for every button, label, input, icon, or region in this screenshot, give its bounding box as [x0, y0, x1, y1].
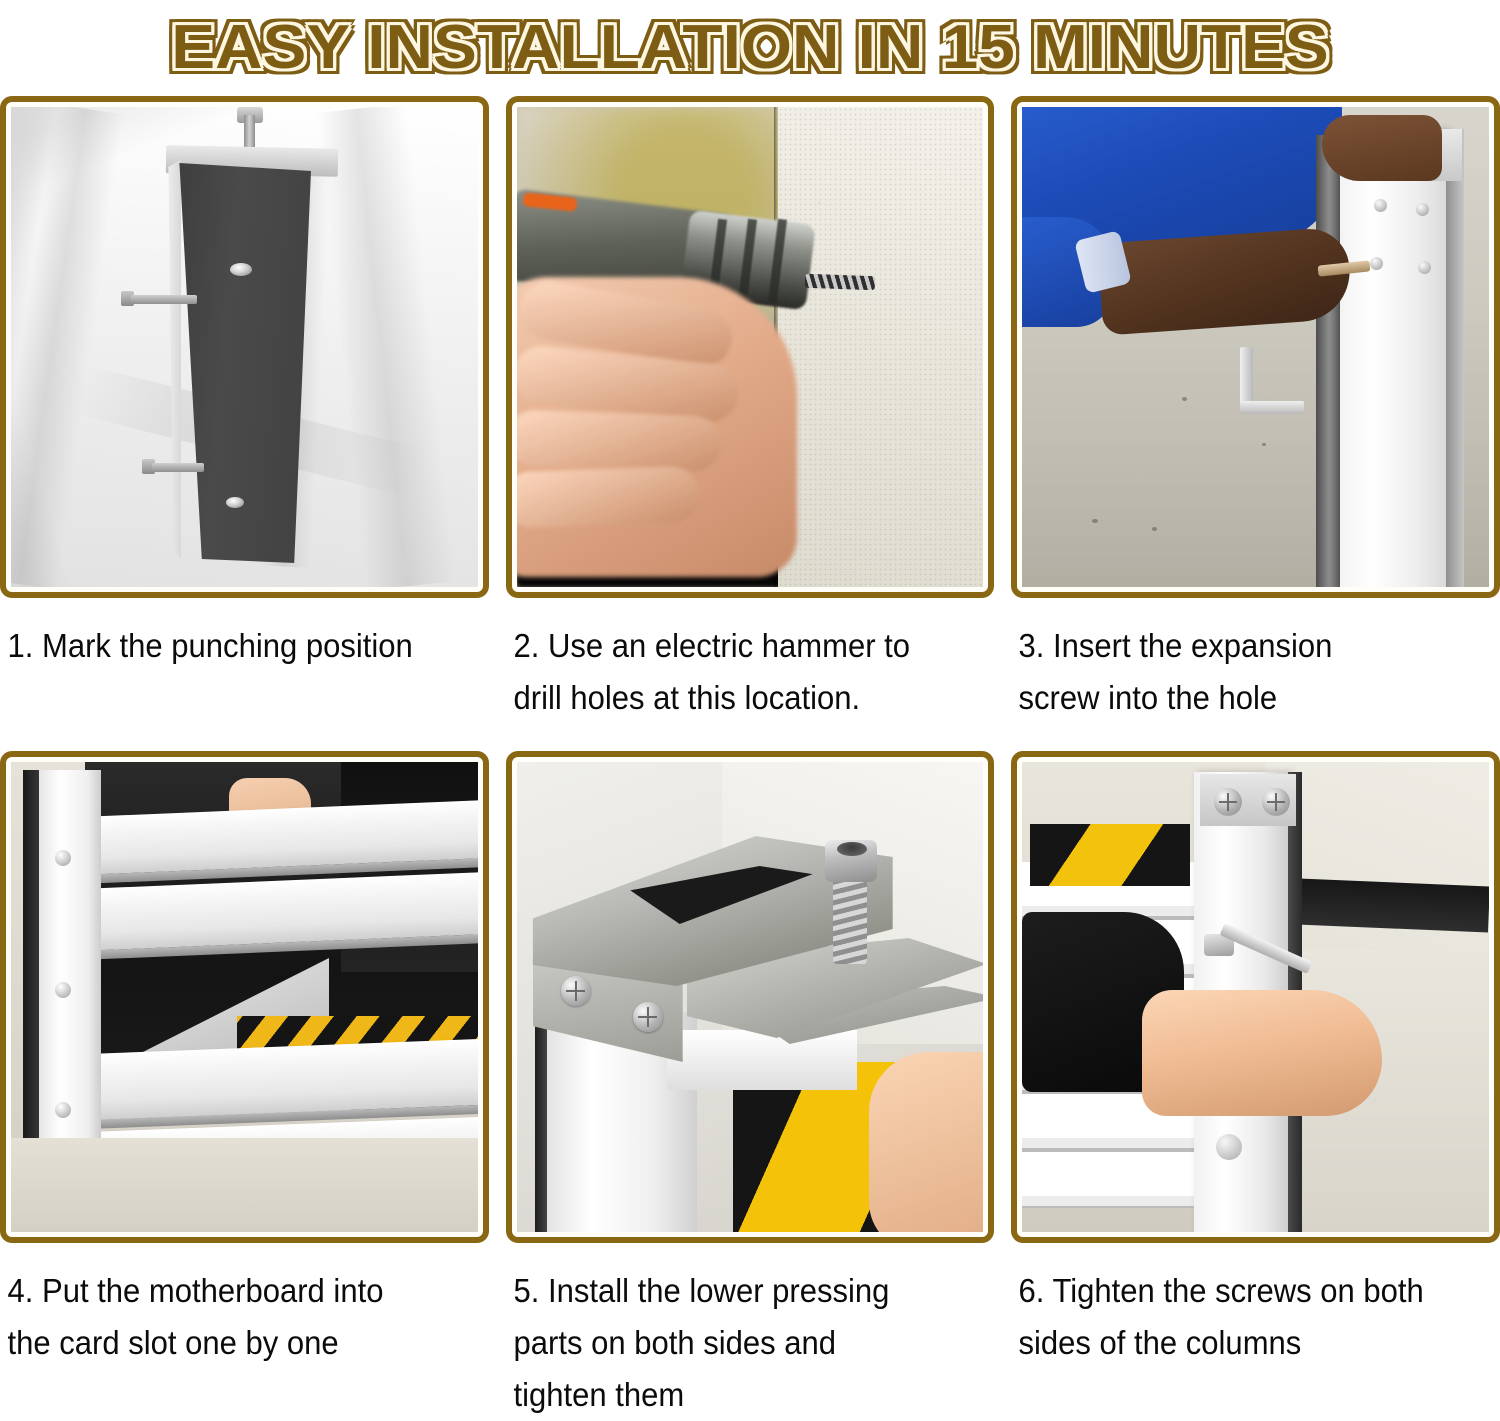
expansion-screw-photo	[1022, 107, 1489, 587]
pressing-part-photo	[517, 762, 984, 1232]
photo-frame-3	[1011, 96, 1500, 598]
tighten-screws-photo	[1022, 762, 1489, 1232]
title-banner: EASY INSTALLATION IN 15 MINUTES	[0, 0, 1500, 96]
photo-row-bottom	[0, 751, 1500, 1243]
caption-row-top: 1. Mark the punching position 2. Use an …	[0, 598, 1500, 751]
photo-frame-4	[0, 751, 489, 1243]
motherboard-slot-photo	[11, 762, 478, 1232]
steps-grid: 1. Mark the punching position 2. Use an …	[0, 96, 1500, 1415]
photo-frame-6	[1011, 751, 1500, 1243]
caption-row-bottom: 4. Put the motherboard into the card slo…	[0, 1243, 1500, 1415]
step-5-photo-cell	[506, 751, 995, 1243]
step-2-caption: 2. Use an electric hammer to drill holes…	[506, 620, 965, 751]
photo-frame-1	[0, 96, 489, 598]
step-1-caption: 1. Mark the punching position	[0, 620, 459, 751]
step-2-photo-cell	[506, 96, 995, 598]
step-4-photo-cell	[0, 751, 489, 1243]
step-6-photo-cell	[1011, 751, 1500, 1243]
photo-frame-2	[506, 96, 995, 598]
mounting-plate-photo	[11, 107, 478, 587]
photo-frame-5	[506, 751, 995, 1243]
photo-row-top	[0, 96, 1500, 598]
step-1-photo-cell	[0, 96, 489, 598]
step-3-photo-cell	[1011, 96, 1500, 598]
step-4-caption: 4. Put the motherboard into the card slo…	[0, 1265, 459, 1415]
page-title: EASY INSTALLATION IN 15 MINUTES	[171, 17, 1329, 79]
step-6-caption: 6. Tighten the screws on both sides of t…	[1011, 1265, 1470, 1415]
step-3-caption: 3. Insert the expansion screw into the h…	[1011, 620, 1470, 751]
step-5-caption: 5. Install the lower pressing parts on b…	[506, 1265, 965, 1415]
drill-wall-photo	[517, 107, 984, 587]
